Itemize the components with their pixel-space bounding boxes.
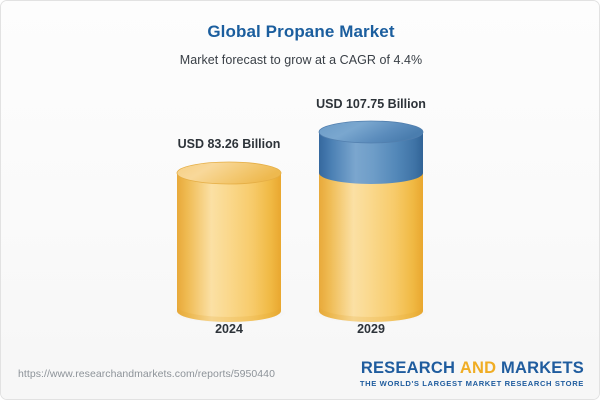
bar-2029-value-label: USD 107.75 Billion [251, 97, 491, 111]
chart-footer: https://www.researchandmarkets.com/repor… [1, 352, 600, 399]
bar-2024 [171, 162, 287, 323]
logo-word-and: AND [460, 359, 496, 377]
cylinder-bar-chart [1, 1, 600, 353]
bar-2029 [313, 121, 429, 323]
bar-2029-year-label: 2029 [311, 322, 431, 336]
logo-tagline: THE WORLD'S LARGEST MARKET RESEARCH STOR… [360, 378, 584, 389]
bar-2024-top-cap [177, 162, 281, 184]
chart-card: Global Propane Market Market forecast to… [0, 0, 600, 400]
research-and-markets-logo[interactable]: RESEARCH AND MARKETS THE WORLD'S LARGEST… [360, 359, 584, 389]
report-url[interactable]: https://www.researchandmarkets.com/repor… [18, 368, 275, 380]
logo-word-research: RESEARCH [361, 359, 455, 377]
bar-2024-body [177, 173, 281, 322]
bar-2024-year-label: 2024 [169, 322, 289, 336]
logo-wordmark: RESEARCH AND MARKETS [360, 359, 584, 377]
logo-word-markets: MARKETS [501, 359, 584, 377]
bar-2024-value-label: USD 83.26 Billion [109, 137, 349, 151]
bar-2029-base-segment [319, 173, 423, 322]
